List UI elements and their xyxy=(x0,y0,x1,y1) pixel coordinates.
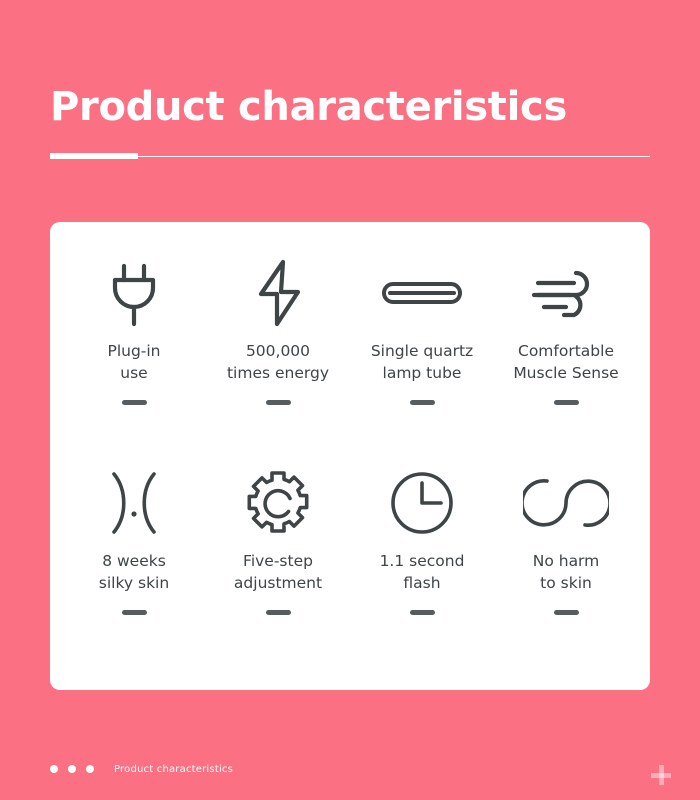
footer-label: Product characteristics xyxy=(114,764,233,775)
feature-dash xyxy=(122,400,147,405)
features-card: Plug-in use 500,000 times energy xyxy=(50,222,650,690)
feature-label-line1: Plug-in xyxy=(107,342,160,360)
feature-label: Comfortable Muscle Sense xyxy=(513,340,618,384)
feature-dash xyxy=(554,610,579,615)
feature-item[interactable]: Comfortable Muscle Sense xyxy=(494,248,638,458)
feature-label: 1.1 second flash xyxy=(380,550,465,594)
feature-label-line2: flash xyxy=(403,574,440,592)
feature-label-line1: Five-step xyxy=(243,552,313,570)
feature-dash xyxy=(554,400,579,405)
feature-item[interactable]: No harm to skin xyxy=(494,458,638,668)
feature-label: 500,000 times energy xyxy=(227,340,329,384)
feature-label-line1: No harm xyxy=(533,552,600,570)
feature-dash xyxy=(266,610,291,615)
feature-dash xyxy=(266,400,291,405)
feature-label: 8 weeks silky skin xyxy=(99,550,169,594)
features-grid: Plug-in use 500,000 times energy xyxy=(50,222,650,690)
pagination-dots[interactable] xyxy=(50,765,94,773)
pagination-dot[interactable] xyxy=(50,765,58,773)
feature-label-line1: Comfortable xyxy=(518,342,614,360)
feature-item[interactable]: 500,000 times energy xyxy=(206,248,350,458)
silky-skin-icon xyxy=(97,464,171,542)
feature-label-line2: Muscle Sense xyxy=(513,364,618,382)
page-footer: Product characteristics xyxy=(50,758,650,780)
feature-label: Plug-in use xyxy=(107,340,160,384)
feature-item[interactable]: 1.1 second flash xyxy=(350,458,494,668)
feature-item[interactable]: Single quartz lamp tube xyxy=(350,248,494,458)
plus-icon[interactable] xyxy=(650,764,672,786)
feature-item[interactable]: Plug-in use xyxy=(62,248,206,458)
lamp-tube-icon xyxy=(380,254,464,332)
feature-label: Five-step adjustment xyxy=(234,550,322,594)
page-header: Product characteristics xyxy=(50,84,650,159)
pagination-dot[interactable] xyxy=(86,765,94,773)
feature-item[interactable]: 8 weeks silky skin xyxy=(62,458,206,668)
gear-icon xyxy=(244,464,312,542)
feature-label-line2: adjustment xyxy=(234,574,322,592)
feature-dash xyxy=(410,400,435,405)
feature-label-line2: lamp tube xyxy=(383,364,462,382)
title-underline xyxy=(50,153,650,159)
feature-label-line2: silky skin xyxy=(99,574,169,592)
feature-label-line2: use xyxy=(120,364,147,382)
feature-label-line2: to skin xyxy=(540,574,592,592)
feature-label: No harm to skin xyxy=(533,550,600,594)
wind-icon xyxy=(530,254,602,332)
pagination-dot[interactable] xyxy=(68,765,76,773)
plug-icon xyxy=(99,254,169,332)
feature-label-line1: 500,000 xyxy=(246,342,310,360)
title-underline-thin xyxy=(50,156,650,158)
lightning-icon xyxy=(248,254,308,332)
feature-label-line1: 1.1 second xyxy=(380,552,465,570)
feature-dash xyxy=(122,610,147,615)
s-curve-icon xyxy=(523,464,609,542)
feature-label-line2: times energy xyxy=(227,364,329,382)
feature-label-line1: Single quartz xyxy=(371,342,473,360)
feature-dash xyxy=(410,610,435,615)
page-title: Product characteristics xyxy=(50,84,650,130)
clock-icon xyxy=(388,464,456,542)
feature-label-line1: 8 weeks xyxy=(102,552,166,570)
feature-item[interactable]: Five-step adjustment xyxy=(206,458,350,668)
feature-label: Single quartz lamp tube xyxy=(371,340,473,384)
title-underline-accent xyxy=(50,153,138,159)
